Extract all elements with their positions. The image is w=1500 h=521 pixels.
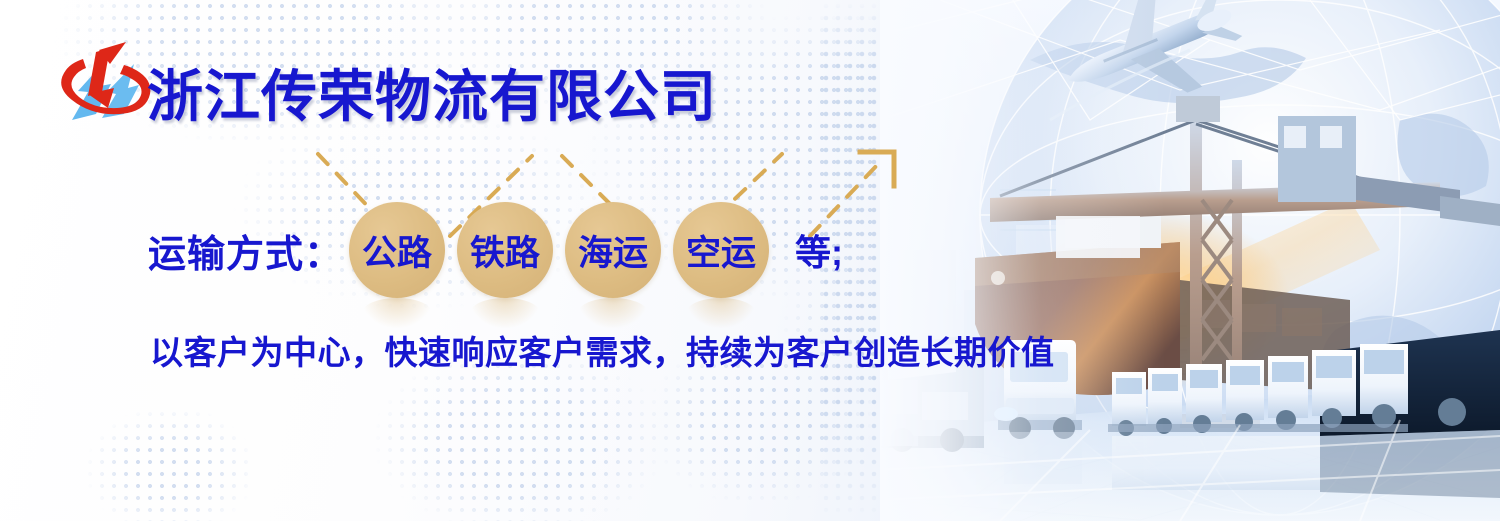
logistics-photo-collage [880, 0, 1500, 521]
transport-mode-rail[interactable]: 铁路 [457, 202, 553, 298]
tagline: 以客户为中心，快速响应客户需求，持续为客户创造长期价值 [150, 326, 1055, 374]
transport-mode-road[interactable]: 公路 [349, 202, 445, 298]
transport-mode-air-label: 空运 [686, 225, 756, 276]
logistics-banner: 浙江传荣物流有限公司 运输方式： 公路 铁路 海运 空运 等; 以客户为中心，快… [0, 0, 1500, 521]
transport-mode-rail-label: 铁路 [470, 225, 540, 276]
collage-artwork [880, 0, 1500, 521]
transport-mode-label: 运输方式： [148, 223, 343, 278]
transport-mode-road-label: 公路 [362, 225, 432, 276]
transport-mode-suffix: 等; [795, 224, 843, 276]
transport-mode-air[interactable]: 空运 [673, 202, 769, 298]
company-logo-swoosh-icon [44, 34, 152, 144]
page-title: 浙江传荣物流有限公司 [147, 52, 717, 133]
transport-mode-sea[interactable]: 海运 [565, 202, 661, 298]
company-logo[interactable] [44, 34, 152, 144]
transport-modes-row: 运输方式： 公路 铁路 海运 空运 等; [148, 200, 843, 300]
transport-mode-sea-label: 海运 [578, 225, 648, 276]
